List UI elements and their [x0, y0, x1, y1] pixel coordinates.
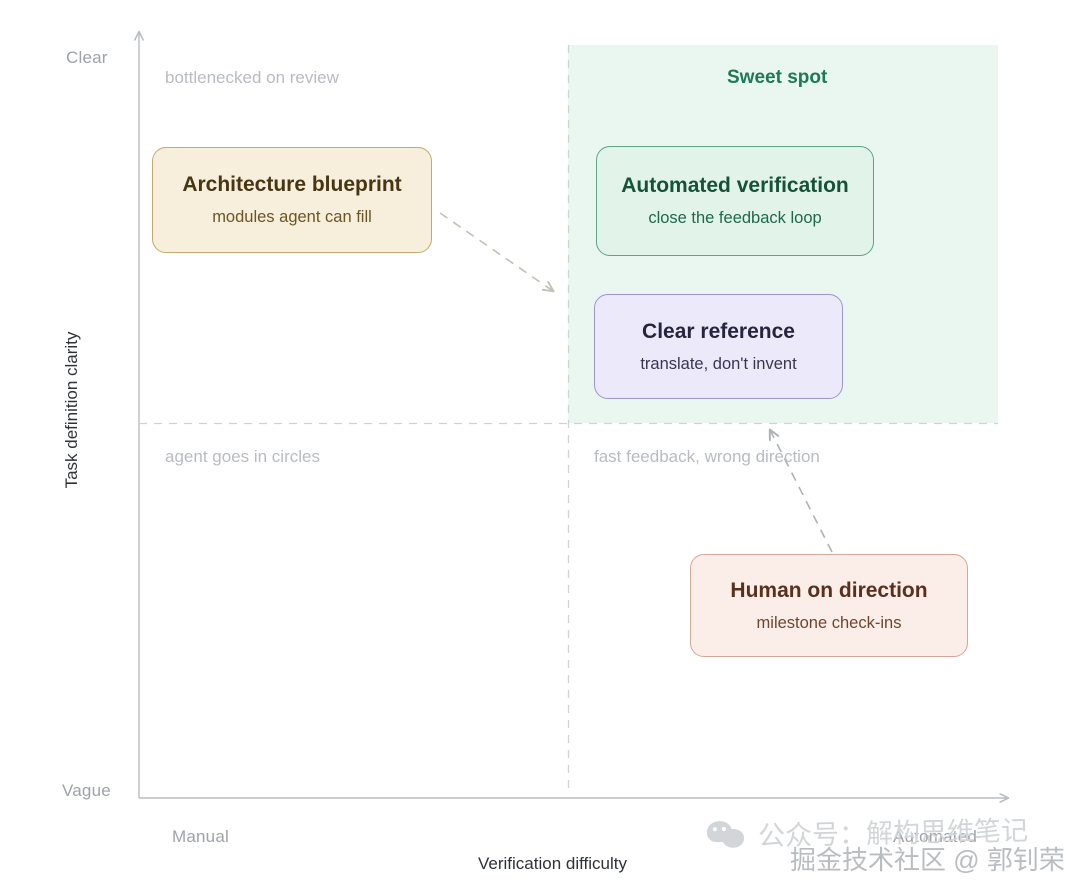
sweet-spot-label: Sweet spot	[727, 67, 827, 89]
y-axis-low-label: Vague	[62, 781, 111, 801]
connector-blueprint-to-sweetspot	[440, 213, 553, 291]
card-title: Architecture blueprint	[182, 172, 401, 197]
quadrant-diagram: Clear Vague Manual Automated Task defini…	[0, 0, 1080, 895]
card-human-on-direction[interactable]: Human on direction milestone check-ins	[690, 554, 968, 657]
card-title: Human on direction	[730, 578, 927, 603]
card-subtitle: modules agent can fill	[212, 208, 372, 228]
quadrant-caption-bottom-left: agent goes in circles	[165, 447, 320, 467]
card-automated-verification[interactable]: Automated verification close the feedbac…	[596, 146, 874, 256]
x-axis-title: Verification difficulty	[478, 854, 627, 874]
card-title: Clear reference	[642, 319, 795, 344]
wechat-icon	[707, 819, 750, 850]
x-axis-low-label: Manual	[172, 827, 229, 847]
card-subtitle: translate, don't invent	[640, 355, 796, 375]
card-clear-reference[interactable]: Clear reference translate, don't invent	[594, 294, 843, 399]
y-axis-title: Task definition clarity	[62, 310, 82, 510]
quadrant-caption-top-left: bottlenecked on review	[165, 68, 339, 88]
card-subtitle: milestone check-ins	[757, 614, 902, 634]
quadrant-caption-bottom-right: fast feedback, wrong direction	[594, 447, 820, 467]
author-watermark: 掘金技术社区 @ 郭钊荣	[790, 840, 1065, 877]
y-axis-high-label: Clear	[66, 48, 108, 68]
card-title: Automated verification	[621, 173, 849, 198]
card-subtitle: close the feedback loop	[648, 209, 821, 229]
card-architecture-blueprint[interactable]: Architecture blueprint modules agent can…	[152, 147, 432, 253]
